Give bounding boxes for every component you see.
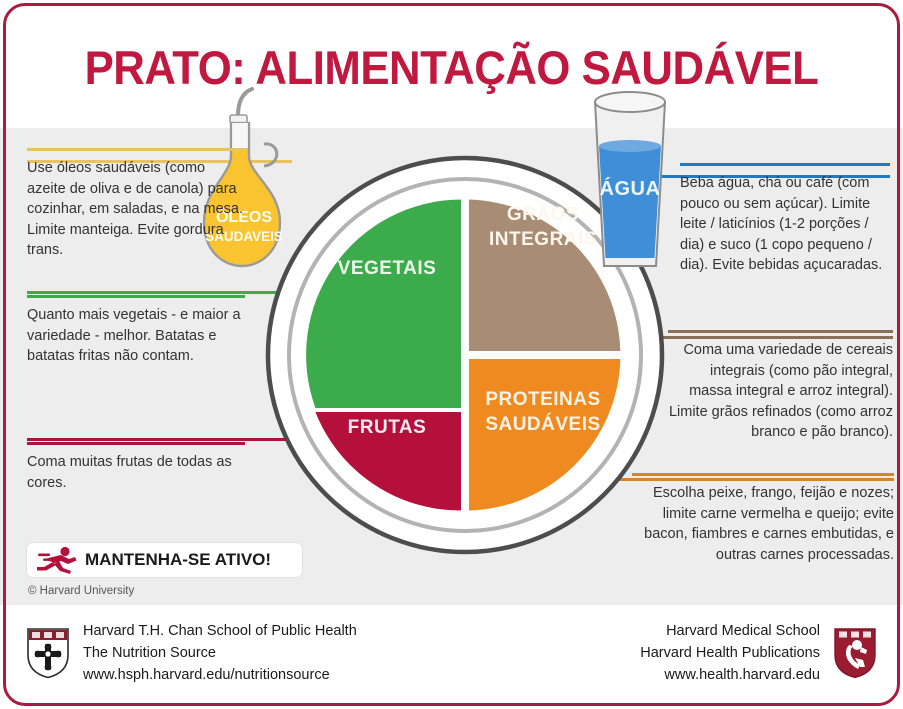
plate-label-whole-grains-line2: INTEGRAIS	[489, 229, 597, 250]
oil-bottle-spout	[238, 89, 252, 116]
water-glass-rim	[595, 92, 665, 112]
running-person-icon	[35, 546, 81, 574]
footer-logo-harvard-chan[interactable]: Harvard T.H. Chan School of Public Healt…	[26, 620, 357, 686]
footer-right-line3: www.health.harvard.edu	[640, 664, 820, 686]
footer-left-line1: Harvard T.H. Chan School of Public Healt…	[83, 620, 357, 642]
callout-healthy-proteins: Escolha peixe, frango, feijão e nozes; l…	[632, 473, 894, 565]
callout-vegetables: Quanto mais vegetais - e maior a varieda…	[27, 295, 245, 367]
water-glass-label: ÁGUA	[600, 177, 661, 200]
plate-label-vegetables: VEGETAIS	[338, 258, 437, 279]
copyright-notice: © Harvard University	[28, 585, 134, 597]
water-glass-fill	[599, 146, 661, 258]
stay-active-label: MANTENHA-SE ATIVO!	[85, 550, 271, 570]
callout-text-fruits: Coma muitas frutas de todas as cores.	[27, 452, 245, 493]
oil-bottle-handle	[264, 144, 277, 166]
water-glass-icon: ÁGUA	[586, 88, 678, 280]
callout-water: Beba água, chá ou café (com pouco ou sem…	[680, 163, 890, 276]
water-surface	[599, 140, 661, 152]
callout-text-oils: Use óleos saudáveis (como azeite de oliv…	[27, 158, 245, 261]
callout-text-vegetables: Quanto mais vegetais - e maior a varieda…	[27, 305, 245, 367]
healthy-eating-plate-poster: PRATO: ALIMENTAÇÃO SAUDÁVEL V	[0, 0, 903, 709]
callout-rule-water	[680, 163, 890, 166]
callout-fruits: Coma muitas frutas de todas as cores.	[27, 442, 245, 493]
harvard-medical-shield-icon	[833, 627, 877, 679]
plate-label-whole-grains-line1: GRÃOS	[507, 203, 579, 225]
footer-right-text: Harvard Medical School Harvard Health Pu…	[640, 620, 820, 686]
callout-rule-whole-grains	[668, 330, 893, 333]
callout-rule-healthy-proteins	[632, 473, 894, 476]
footer-left-line3: www.hsph.harvard.edu/nutritionsource	[83, 664, 357, 686]
plate-label-fruits: FRUTAS	[348, 417, 427, 438]
callout-text-whole-grains: Coma uma variedade de cereais integrais …	[668, 340, 893, 443]
callout-text-water: Beba água, chá ou café (com pouco ou sem…	[680, 173, 890, 276]
callout-rule-fruits	[27, 442, 245, 445]
callout-rule-oils	[27, 148, 245, 151]
callout-rule-vegetables	[27, 295, 245, 298]
callout-whole-grains: Coma uma variedade de cereais integrais …	[668, 330, 893, 443]
poster-header: PRATO: ALIMENTAÇÃO SAUDÁVEL	[0, 0, 903, 128]
oil-bottle-empty-neck	[231, 123, 249, 148]
footer-left-line2: The Nutrition Source	[83, 642, 357, 664]
plate-label-healthy-proteins-line2: SAUDÁVEIS	[485, 413, 600, 435]
oil-bottle-collar	[230, 115, 247, 123]
water-glass: ÁGUA	[586, 88, 678, 280]
footer-logo-harvard-medical[interactable]: Harvard Medical School Harvard Health Pu…	[640, 620, 877, 686]
footer-left-text: Harvard T.H. Chan School of Public Healt…	[83, 620, 357, 686]
harvard-chan-shield-icon	[26, 627, 70, 679]
footer-right-line1: Harvard Medical School	[640, 620, 820, 642]
footer-right-line2: Harvard Health Publications	[640, 642, 820, 664]
stay-active-badge[interactable]: MANTENHA-SE ATIVO!	[27, 543, 302, 577]
callout-text-healthy-proteins: Escolha peixe, frango, feijão e nozes; l…	[632, 483, 894, 565]
plate-label-healthy-proteins-line1: PROTEINAS	[485, 389, 600, 410]
callout-oils: Use óleos saudáveis (como azeite de oliv…	[27, 148, 245, 261]
